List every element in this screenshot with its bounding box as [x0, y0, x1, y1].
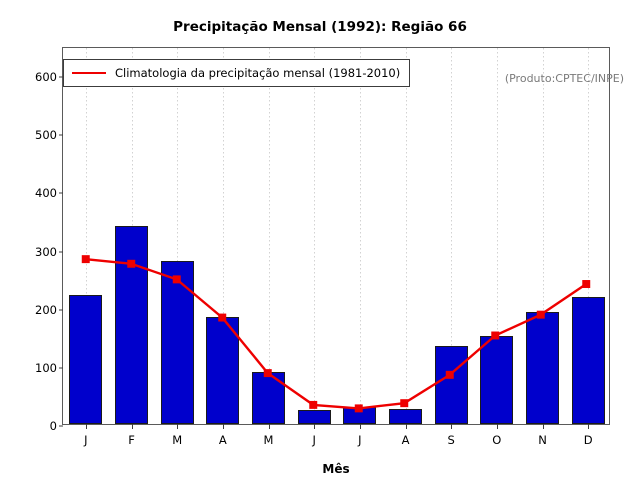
climatology-marker — [82, 255, 90, 263]
climatology-marker — [582, 280, 590, 288]
x-tick-mark — [86, 424, 87, 429]
legend-line-swatch — [72, 72, 106, 74]
climatology-marker — [127, 260, 135, 268]
y-tick-label: 100 — [35, 361, 57, 375]
climatology-line-series — [63, 48, 609, 424]
x-tick-label: S — [448, 433, 455, 447]
y-tick-label: 600 — [35, 70, 57, 84]
x-tick-label: J — [84, 433, 87, 447]
y-tick-mark — [59, 309, 63, 310]
climatology-marker — [218, 314, 226, 322]
x-axis-label: Mês — [62, 462, 610, 476]
legend-entry-label: Climatologia da precipitação mensal (198… — [115, 66, 400, 80]
climatology-marker — [355, 404, 363, 412]
y-tick-label: 200 — [35, 303, 57, 317]
climatology-line — [86, 259, 587, 408]
climatology-marker — [537, 311, 545, 319]
x-tick-mark — [588, 424, 589, 429]
x-tick-label: M — [172, 433, 182, 447]
legend: Climatologia da precipitação mensal (198… — [63, 59, 410, 87]
x-tick-mark — [269, 424, 270, 429]
climatology-marker — [173, 275, 181, 283]
x-tick-mark — [132, 424, 133, 429]
x-tick-label: A — [402, 433, 410, 447]
y-tick-mark — [59, 367, 63, 368]
x-tick-mark — [497, 424, 498, 429]
plot-area: JFMAMJJASOND0100200300400500600 — [62, 47, 610, 425]
climatology-marker — [491, 332, 499, 340]
x-tick-label: A — [219, 433, 227, 447]
precipitation-chart-figure: Precipitação Mensal (1992): Região 66 Pr… — [0, 0, 640, 500]
climatology-marker — [264, 369, 272, 377]
x-tick-mark — [451, 424, 452, 429]
x-tick-mark — [543, 424, 544, 429]
y-tick-label: 300 — [35, 245, 57, 259]
chart-title: Precipitação Mensal (1992): Região 66 — [0, 19, 640, 35]
x-tick-label: O — [492, 433, 501, 447]
climatology-marker — [446, 371, 454, 379]
x-tick-label: N — [538, 433, 547, 447]
x-tick-label: D — [584, 433, 593, 447]
x-tick-mark — [177, 424, 178, 429]
y-tick-mark — [59, 251, 63, 252]
x-tick-mark — [360, 424, 361, 429]
climatology-marker — [309, 401, 317, 409]
x-tick-label: M — [264, 433, 274, 447]
y-tick-mark — [59, 426, 63, 427]
source-annotation: (Produto:CPTEC/INPE) — [505, 72, 624, 85]
x-tick-mark — [406, 424, 407, 429]
y-tick-label: 500 — [35, 128, 57, 142]
y-tick-label: 400 — [35, 186, 57, 200]
y-tick-mark — [59, 135, 63, 136]
x-tick-label: J — [312, 433, 315, 447]
x-tick-label: F — [128, 433, 135, 447]
x-tick-mark — [223, 424, 224, 429]
x-tick-label: J — [358, 433, 361, 447]
climatology-marker — [400, 399, 408, 407]
y-tick-label: 0 — [50, 419, 57, 433]
y-tick-mark — [59, 193, 63, 194]
x-tick-mark — [314, 424, 315, 429]
